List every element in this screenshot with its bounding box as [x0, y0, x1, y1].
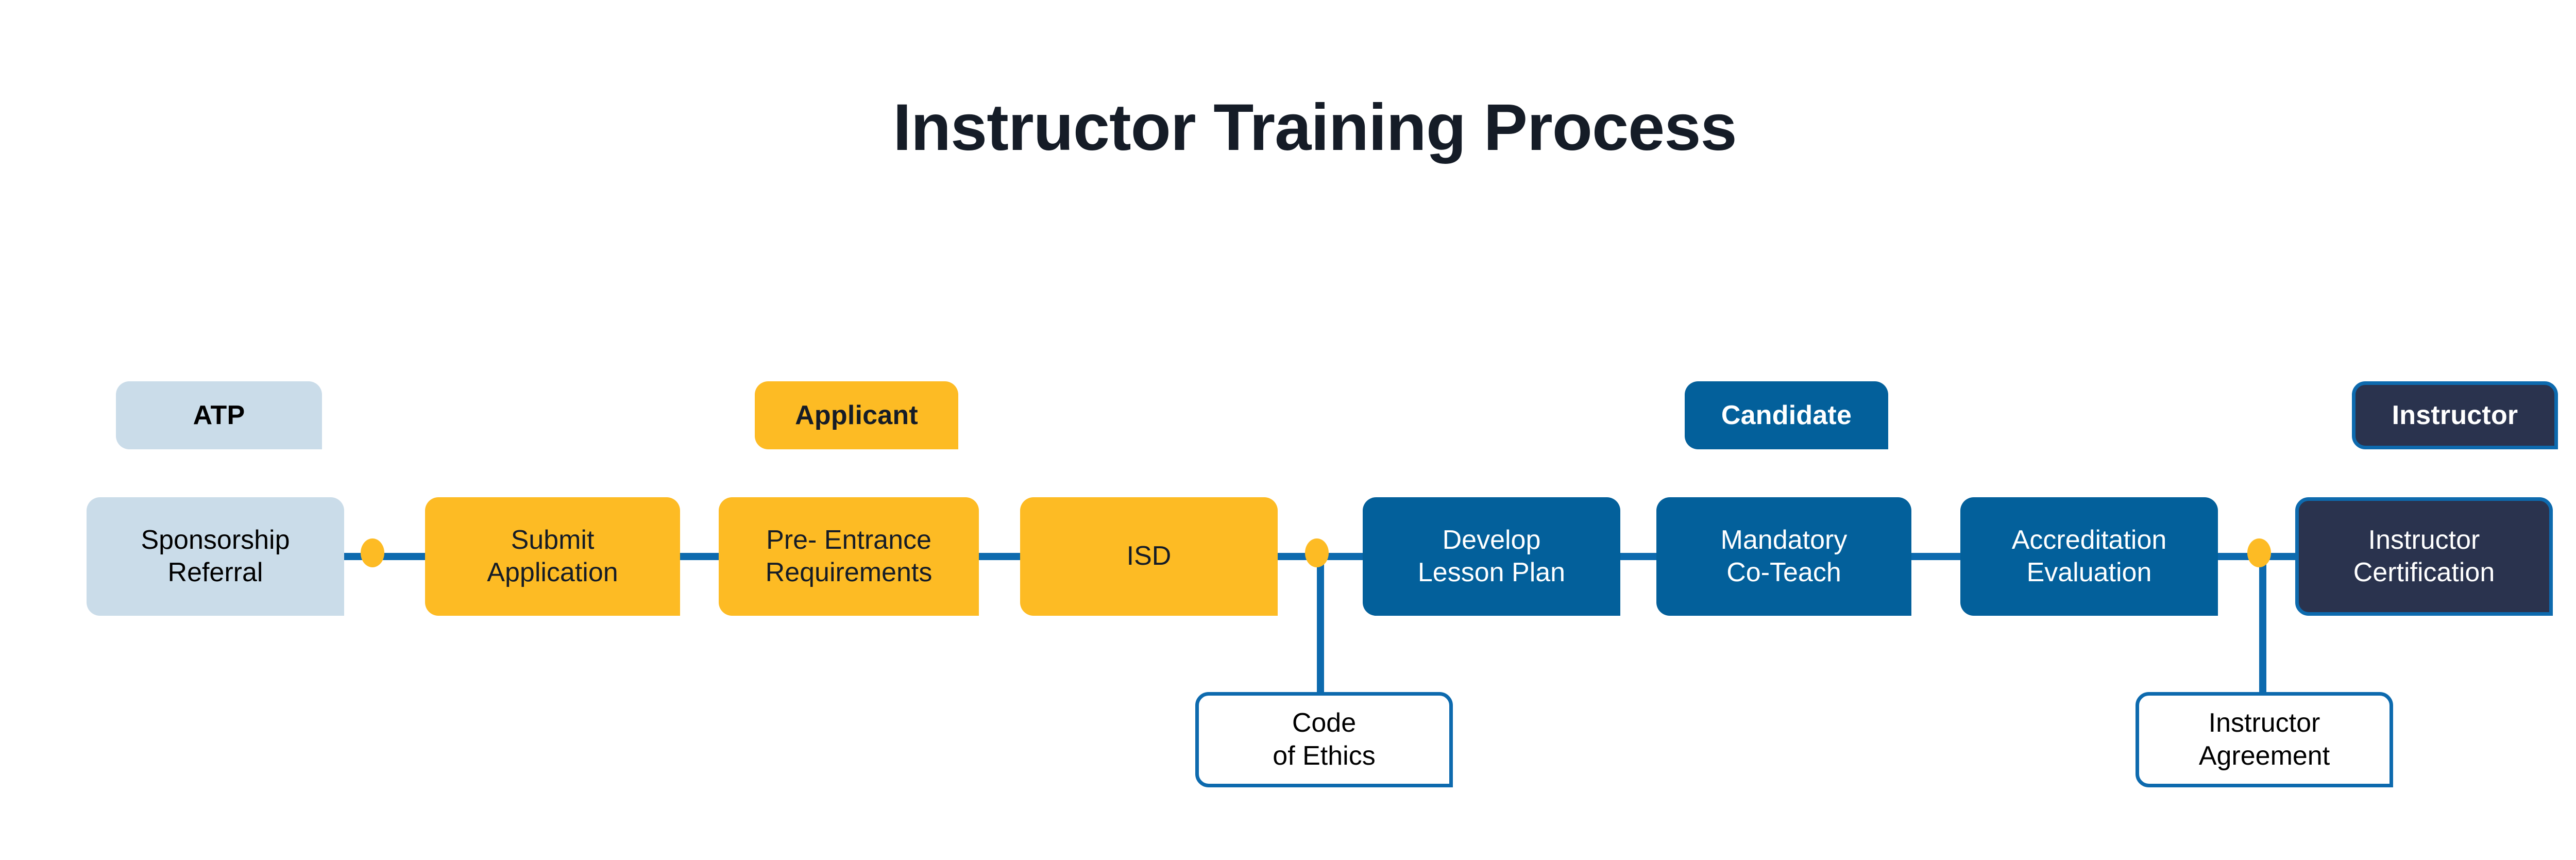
node-label-line2: Referral — [141, 557, 290, 589]
node-label: ISD — [1127, 540, 1172, 572]
node-label-line1: Accreditation — [2012, 524, 2167, 557]
node-label-line1: ISD — [1127, 540, 1172, 572]
node-develop-lesson-plan[interactable]: Develop Lesson Plan — [1363, 497, 1620, 616]
lane-badge-label: Instructor — [2392, 400, 2518, 431]
node-label: Sponsorship Referral — [141, 524, 290, 589]
node-label-line1: Sponsorship — [141, 524, 290, 557]
node-label-line1: Mandatory — [1721, 524, 1848, 557]
node-isd[interactable]: ISD — [1020, 497, 1278, 616]
node-label-line2: Co-Teach — [1721, 557, 1848, 589]
junction-dot-accreditation-certification — [2247, 538, 2271, 567]
connector-isd-to-code-of-ethics — [1317, 553, 1324, 692]
node-pre-entrance-requirements[interactable]: Pre- Entrance Requirements — [719, 497, 979, 616]
subnode-instructor-agreement[interactable]: Instructor Agreement — [2136, 692, 2393, 787]
subnode-code-of-ethics[interactable]: Code of Ethics — [1195, 692, 1453, 787]
lane-badge-candidate[interactable]: Candidate — [1685, 381, 1888, 449]
node-label: Instructor Certification — [2353, 524, 2495, 589]
node-label-line1: Pre- Entrance — [766, 524, 933, 557]
node-label: Develop Lesson Plan — [1418, 524, 1565, 589]
node-label-line2: Application — [487, 557, 618, 589]
node-instructor-certification[interactable]: Instructor Certification — [2295, 497, 2553, 616]
node-mandatory-co-teach[interactable]: Mandatory Co-Teach — [1656, 497, 1911, 616]
lane-badge-atp[interactable]: ATP — [116, 381, 322, 449]
connector-sponsorship-to-submit — [335, 553, 438, 560]
subnode-label-line1: Code — [1273, 707, 1375, 739]
node-label-line1: Develop — [1418, 524, 1565, 557]
node-accreditation-evaluation[interactable]: Accreditation Evaluation — [1960, 497, 2218, 616]
connector-accreditation-to-agreement — [2259, 553, 2266, 692]
node-label-line2: Requirements — [766, 557, 933, 589]
process-flow-diagram: ATP Applicant Candidate Instructor Spons… — [0, 0, 2576, 860]
subnode-label: Code of Ethics — [1273, 707, 1375, 772]
junction-dot-sponsorship-submit — [361, 538, 384, 567]
junction-dot-isd-code-of-ethics — [1305, 538, 1329, 567]
node-label-line2: Certification — [2353, 557, 2495, 589]
subnode-label-line1: Instructor — [2199, 707, 2330, 739]
connector-mandatory-to-accreditation — [1906, 553, 1968, 560]
lane-badge-label: Candidate — [1721, 400, 1852, 431]
node-label: Accreditation Evaluation — [2012, 524, 2167, 589]
subnode-label-line2: of Ethics — [1273, 740, 1375, 772]
node-label: Submit Application — [487, 524, 618, 589]
lane-badge-label: ATP — [193, 400, 245, 431]
subnode-label: Instructor Agreement — [2199, 707, 2330, 772]
node-sponsorship-referral[interactable]: Sponsorship Referral — [87, 497, 344, 616]
lane-badge-applicant[interactable]: Applicant — [755, 381, 958, 449]
node-label-line1: Submit — [487, 524, 618, 557]
node-submit-application[interactable]: Submit Application — [425, 497, 680, 616]
subnode-label-line2: Agreement — [2199, 740, 2330, 772]
lane-badge-label: Applicant — [795, 400, 918, 431]
node-label-line2: Evaluation — [2012, 557, 2167, 589]
lane-badge-instructor[interactable]: Instructor — [2352, 381, 2558, 449]
node-label-line1: Instructor — [2353, 524, 2495, 557]
node-label: Mandatory Co-Teach — [1721, 524, 1848, 589]
node-label: Pre- Entrance Requirements — [766, 524, 933, 589]
node-label-line2: Lesson Plan — [1418, 557, 1565, 589]
